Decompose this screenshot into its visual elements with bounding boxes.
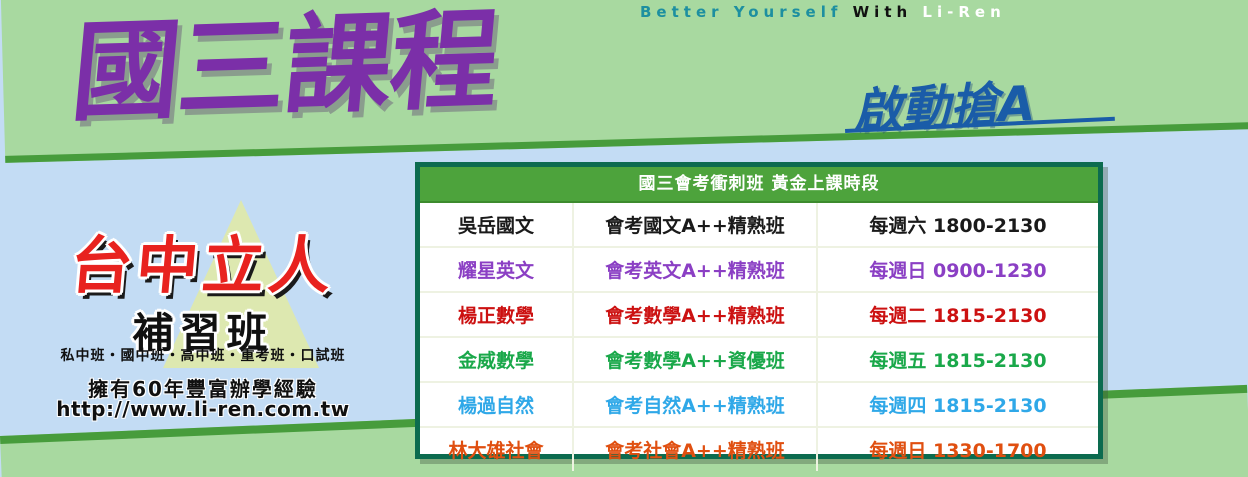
table-row: 耀星英文會考英文A++精熟班每週日 0900-1230 bbox=[420, 247, 1098, 292]
schedule-cell-course: 會考社會A++精熟班 bbox=[573, 427, 817, 471]
schedule-cell-course: 會考英文A++精熟班 bbox=[573, 247, 817, 292]
schedule-cell-time: 每週日 0900-1230 bbox=[817, 247, 1098, 292]
schedule-header: 國三會考衝刺班 黃金上課時段 bbox=[420, 167, 1098, 203]
tagline-word-with: With bbox=[853, 3, 913, 21]
schedule-cell-teacher: 金威數學 bbox=[420, 337, 573, 382]
tagline-word-better: Better bbox=[640, 3, 724, 21]
schedule-cell-time: 每週四 1815-2130 bbox=[817, 382, 1098, 427]
tagline-word-liren: Li-Ren bbox=[922, 3, 1005, 21]
schedule-cell-time: 每週二 1815-2130 bbox=[817, 292, 1098, 337]
schedule-cell-course: 會考數學A++精熟班 bbox=[573, 292, 817, 337]
schedule-cell-time: 每週六 1800-2130 bbox=[817, 203, 1098, 247]
table-row: 吳岳國文會考國文A++精熟班每週六 1800-2130 bbox=[420, 203, 1098, 247]
schedule-cell-course: 會考數學A++資優班 bbox=[573, 337, 817, 382]
page-title: 國三課程 bbox=[67, 1, 502, 136]
logo-branch-list: 私中班・國中班・高中班・重考班・口試班 bbox=[28, 345, 378, 365]
poster-canvas: Better Yourself With Li-Ren 國三課程 啟動搶A 台中… bbox=[0, 0, 1248, 477]
schedule-cell-teacher: 楊正數學 bbox=[420, 292, 573, 337]
table-row: 林大雄社會會考社會A++精熟班每週日 1330-1700 bbox=[420, 427, 1098, 471]
schedule-cell-course: 會考國文A++精熟班 bbox=[573, 203, 817, 247]
tagline-word-yourself: Yourself bbox=[734, 3, 843, 21]
schedule-cell-teacher: 耀星英文 bbox=[420, 247, 573, 292]
schedule-cell-time: 每週五 1815-2130 bbox=[817, 337, 1098, 382]
logo-school-name: 台中立人 bbox=[24, 215, 382, 305]
schedule-cell-teacher: 林大雄社會 bbox=[420, 427, 573, 471]
schedule-table-panel: 國三會考衝刺班 黃金上課時段 吳岳國文會考國文A++精熟班每週六 1800-21… bbox=[415, 162, 1103, 459]
table-row: 金威數學會考數學A++資優班每週五 1815-2130 bbox=[420, 337, 1098, 382]
table-row: 楊正數學會考數學A++精熟班每週二 1815-2130 bbox=[420, 292, 1098, 337]
logo-website-url[interactable]: http://www.li-ren.com.tw bbox=[28, 397, 378, 421]
schedule-table: 吳岳國文會考國文A++精熟班每週六 1800-2130耀星英文會考英文A++精熟… bbox=[420, 203, 1098, 471]
schedule-cell-course: 會考自然A++精熟班 bbox=[573, 382, 817, 427]
tagline: Better Yourself With Li-Ren bbox=[640, 0, 1240, 24]
table-row: 楊過自然會考自然A++精熟班每週四 1815-2130 bbox=[420, 382, 1098, 427]
schedule-cell-teacher: 楊過自然 bbox=[420, 382, 573, 427]
schedule-cell-time: 每週日 1330-1700 bbox=[817, 427, 1098, 471]
schedule-cell-teacher: 吳岳國文 bbox=[420, 203, 573, 247]
school-logo: 台中立人 補習班 私中班・國中班・高中班・重考班・口試班 擁有60年豐富辦學經驗… bbox=[28, 205, 378, 415]
